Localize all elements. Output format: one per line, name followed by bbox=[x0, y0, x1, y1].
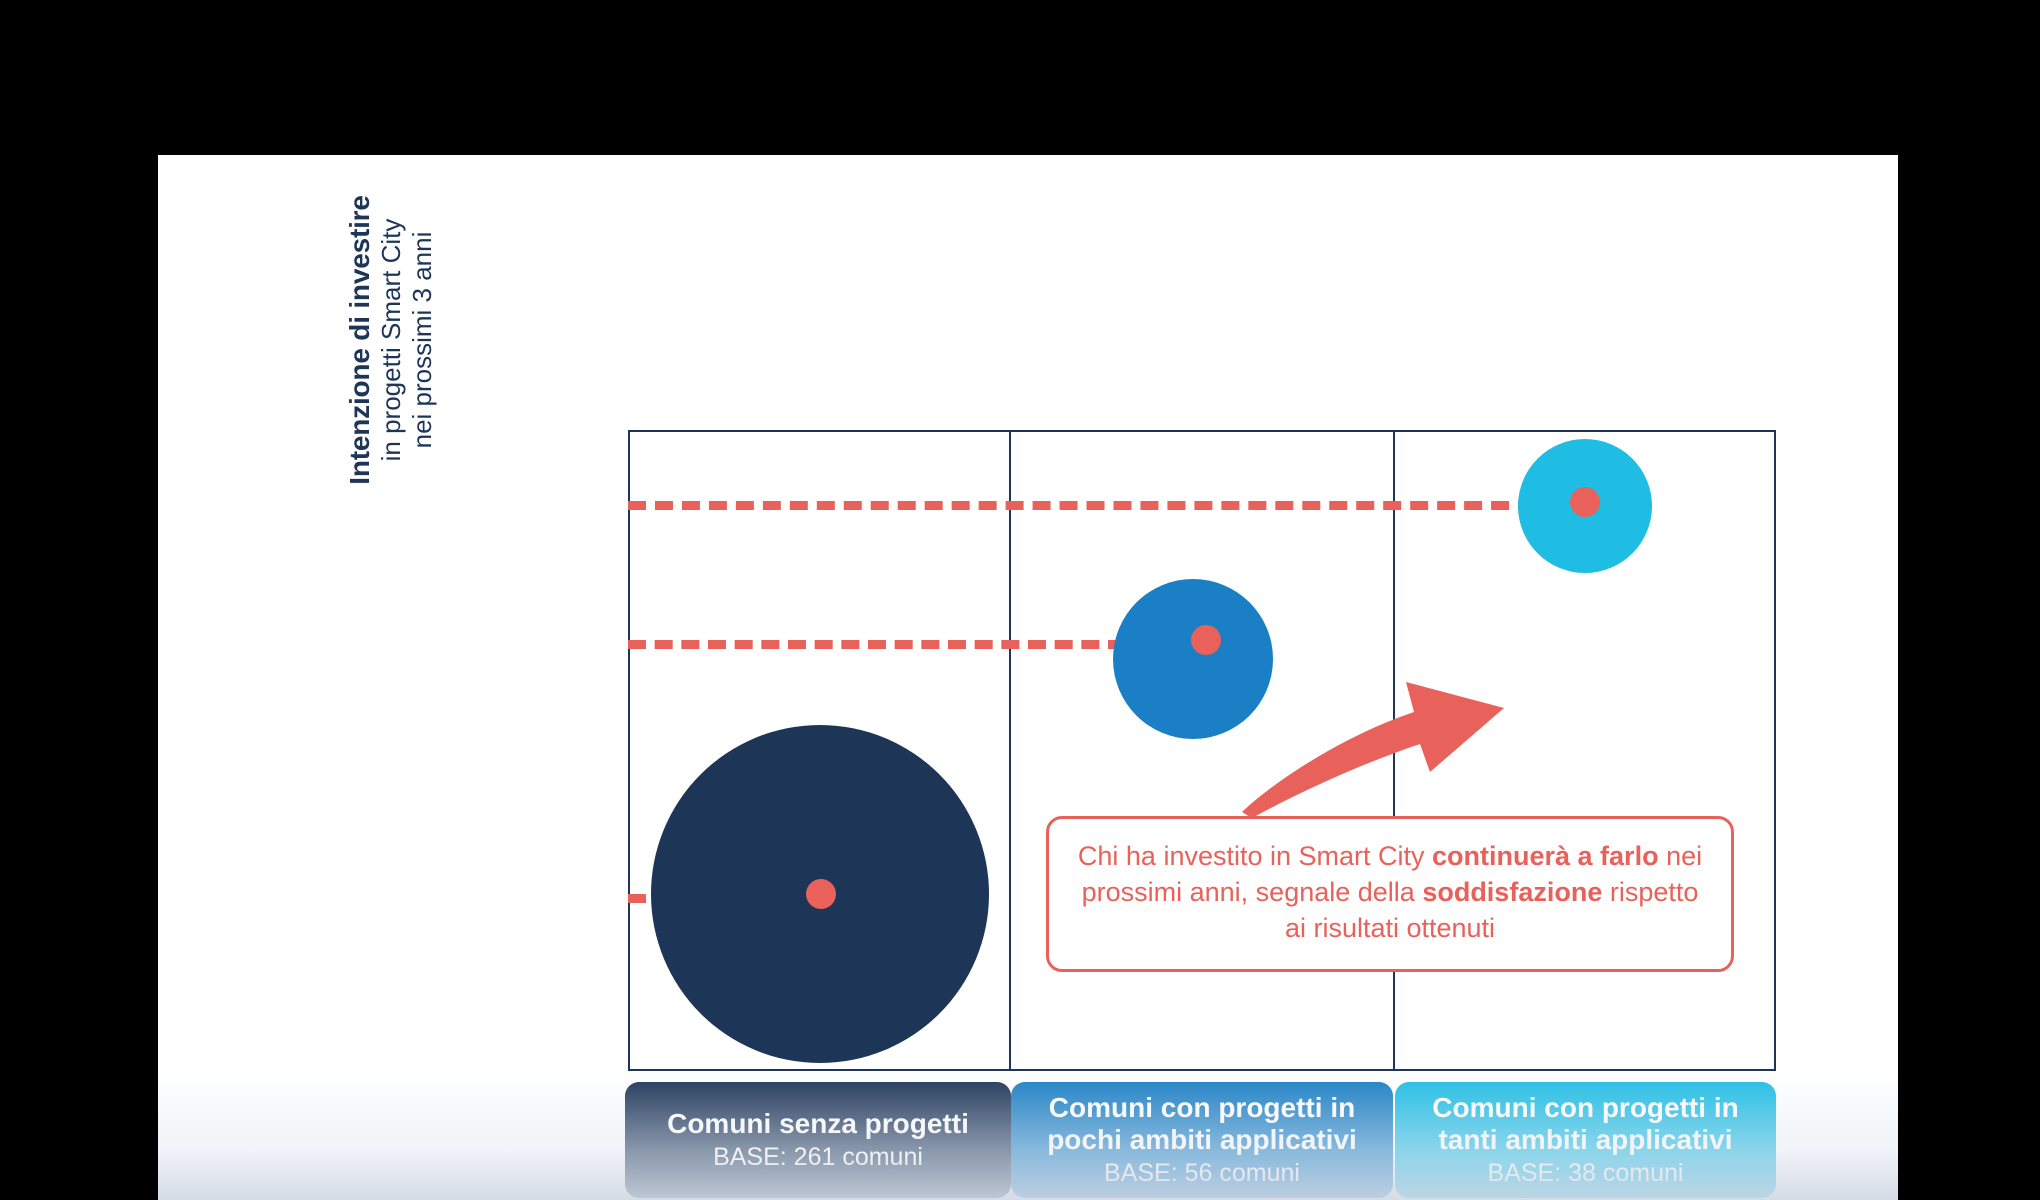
y-axis-title-sub-1: in progetti Smart City bbox=[376, 155, 407, 555]
column-divider-1 bbox=[1009, 432, 1011, 1069]
column-divider-2 bbox=[1393, 432, 1395, 1069]
reference-line-tanti-ambiti bbox=[628, 501, 1590, 510]
category-title: Comuni senza progetti bbox=[667, 1108, 969, 1139]
category-base: BASE: 38 comuni bbox=[1488, 1159, 1684, 1188]
callout-text-1: Chi ha investito in Smart City bbox=[1078, 841, 1432, 871]
slide-stage: Intenzione di investire in progetti Smar… bbox=[0, 0, 2040, 1200]
category-title: Comuni con progetti in tanti ambiti appl… bbox=[1403, 1092, 1768, 1155]
category-label-pochi-ambiti-applicativi[interactable]: Comuni con progetti in pochi ambiti appl… bbox=[1011, 1082, 1393, 1198]
category-label-comuni-senza-progetti[interactable]: Comuni senza progetti BASE: 261 comuni bbox=[625, 1082, 1011, 1198]
y-axis-title: Intenzione di investire in progetti Smar… bbox=[343, 155, 437, 555]
category-title: Comuni con progetti in pochi ambiti appl… bbox=[1019, 1092, 1385, 1155]
y-axis-title-main: Intenzione di investire bbox=[343, 155, 376, 555]
y-axis-title-sub-2: nei prossimi 3 anni bbox=[407, 155, 438, 555]
category-base: BASE: 261 comuni bbox=[713, 1143, 923, 1172]
callout-bold-2: soddisfazione bbox=[1422, 877, 1602, 907]
slide-card: Intenzione di investire in progetti Smar… bbox=[158, 155, 1898, 1200]
category-base: BASE: 56 comuni bbox=[1104, 1159, 1300, 1188]
data-point-tanti-ambiti-applicativi[interactable] bbox=[1570, 487, 1600, 517]
callout-box: Chi ha investito in Smart City continuer… bbox=[1046, 816, 1734, 972]
callout-bold-1: continuerà a farlo bbox=[1432, 841, 1659, 871]
bubble-pochi-ambiti-applicativi[interactable] bbox=[1113, 579, 1273, 739]
data-point-comuni-senza-progetti[interactable] bbox=[806, 879, 836, 909]
data-point-pochi-ambiti-applicativi[interactable] bbox=[1191, 625, 1221, 655]
category-label-tanti-ambiti-applicativi[interactable]: Comuni con progetti in tanti ambiti appl… bbox=[1395, 1082, 1776, 1198]
